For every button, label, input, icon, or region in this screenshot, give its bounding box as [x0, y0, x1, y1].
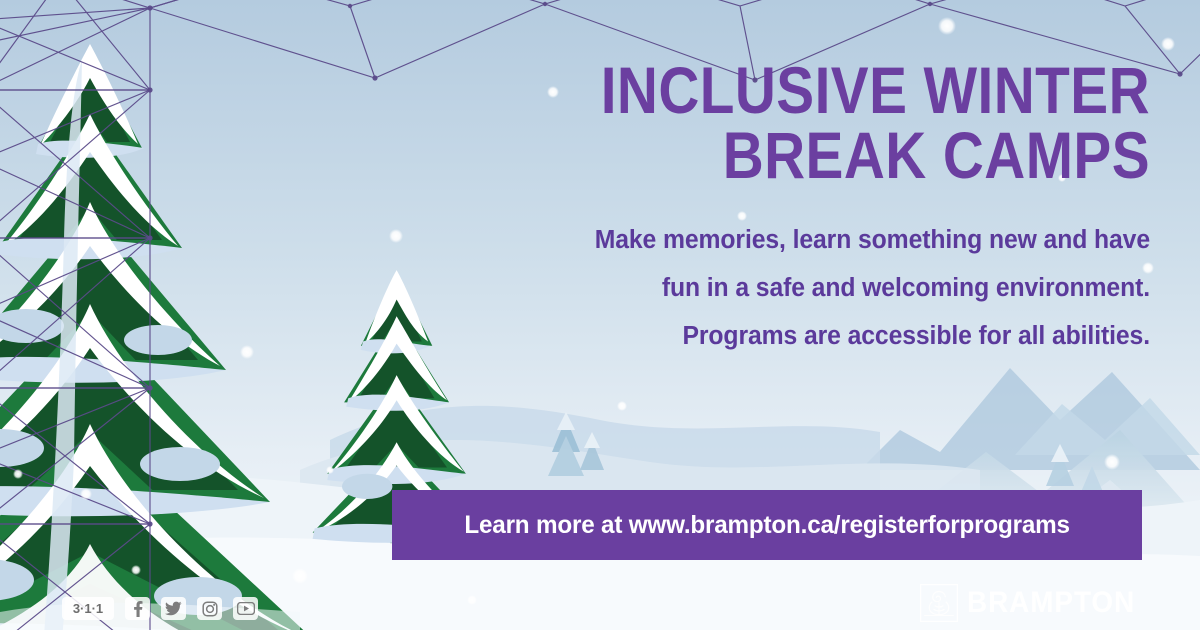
social-links-row: 3·1·1 — [62, 597, 258, 620]
cta-banner[interactable]: Learn more at www.brampton.ca/registerfo… — [392, 490, 1142, 560]
brampton-wordmark: BRAMPTON — [967, 588, 1135, 618]
body-line-2: fun in a safe and welcoming environment. — [452, 265, 1150, 313]
instagram-icon[interactable] — [197, 597, 222, 620]
twitter-icon[interactable] — [161, 597, 186, 620]
body-line-1: Make memories, learn something new and h… — [452, 217, 1150, 265]
headline-line-1: INCLUSIVE WINTER — [601, 53, 1150, 127]
facebook-icon[interactable] — [125, 597, 150, 620]
brampton-logo: BRAMPTON — [920, 584, 1148, 622]
phone-311-label: 3·1·1 — [73, 601, 103, 616]
copy-block: INCLUSIVE WINTER BREAK CAMPS Make memori… — [430, 58, 1150, 360]
youtube-icon[interactable] — [233, 597, 258, 620]
phone-311-icon[interactable]: 3·1·1 — [62, 597, 114, 620]
cta-url-text[interactable]: Learn more at www.brampton.ca/registerfo… — [464, 511, 1069, 540]
brampton-flower-crest-icon — [920, 584, 958, 622]
headline-line-2: BREAK CAMPS — [531, 123, 1150, 188]
body-copy: Make memories, learn something new and h… — [452, 189, 1150, 361]
page-title: INCLUSIVE WINTER BREAK CAMPS — [531, 58, 1150, 189]
body-line-3: Programs are accessible for all abilitie… — [452, 313, 1150, 361]
poster-canvas: INCLUSIVE WINTER BREAK CAMPS Make memori… — [0, 0, 1200, 630]
